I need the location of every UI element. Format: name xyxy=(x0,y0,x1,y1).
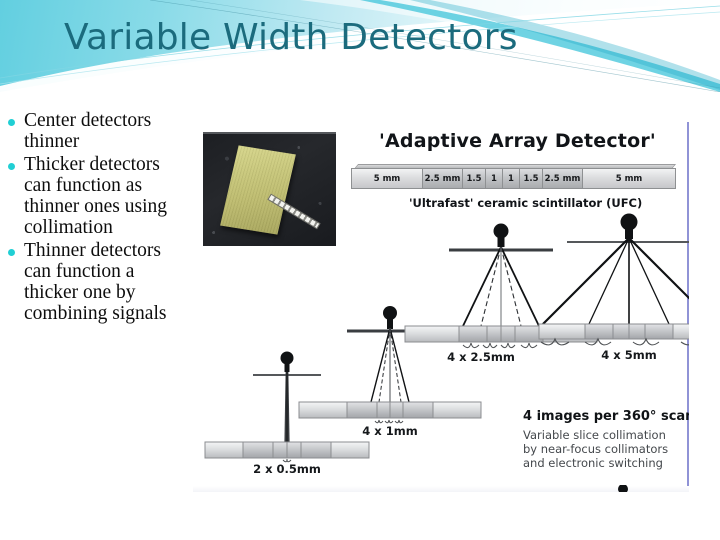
figure-note-heading: 4 images per 360° scan xyxy=(523,409,683,424)
detector-strip: 5 mm 2.5 mm 1.5 1 1 1.5 2.5 mm 5 mm xyxy=(351,164,676,190)
list-item-label: Thinner detectors can function a thicker… xyxy=(24,240,182,324)
figure-note: 4 images per 360° scan Variable slice co… xyxy=(523,409,683,470)
list-item: Thicker detectors can function as thinne… xyxy=(8,154,190,238)
fan-diagram-label: 4 x 1mm xyxy=(295,424,485,438)
detector-cell: 1 xyxy=(503,168,520,189)
scintillator-caption: 'Ultrafast' ceramic scintillator (UFC) xyxy=(409,196,642,210)
figure-note-body: Variable slice collimation by near-focus… xyxy=(523,428,683,470)
slide-header-band: Variable Width Detectors xyxy=(0,0,720,92)
fan-diagram-label: 4 x 5mm xyxy=(523,348,689,362)
detector-cell: 1 xyxy=(486,168,503,189)
ceramic-plate xyxy=(220,145,296,234)
detector-cell: 2.5 mm xyxy=(423,168,463,189)
bullet-dot-icon xyxy=(8,163,15,170)
list-item-label: Center detectors thinner xyxy=(24,110,182,152)
figure-heading: 'Adaptive Array Detector' xyxy=(379,130,656,152)
scintillator-photo xyxy=(203,132,336,246)
slide: Variable Width Detectors Center detector… xyxy=(0,0,720,540)
figure-panel: 'Adaptive Array Detector' 5 mm 2.5 mm 1.… xyxy=(193,122,689,492)
detector-cell: 5 mm xyxy=(351,168,423,189)
page-title: Variable Width Detectors xyxy=(64,17,518,58)
detector-cell: 1.5 xyxy=(520,168,543,189)
list-item: Center detectors thinner xyxy=(8,110,190,152)
fan-diagram-4x5mm: 4 x 5mm xyxy=(523,212,689,372)
collimator-pointer-graphic xyxy=(549,485,689,492)
detector-strip-cells: 5 mm 2.5 mm 1.5 1 1 1.5 2.5 mm 5 mm xyxy=(351,168,676,189)
bullet-list: Center detectors thinner Thicker detecto… xyxy=(8,110,190,326)
list-item-label: Thicker detectors can function as thinne… xyxy=(24,154,182,238)
detector-cell: 1.5 xyxy=(463,168,486,189)
bullet-dot-icon xyxy=(8,249,15,256)
detector-cell: 5 mm xyxy=(583,168,676,189)
list-item: Thinner detectors can function a thicker… xyxy=(8,240,190,324)
fan-diagram-label: 2 x 0.5mm xyxy=(201,462,373,476)
bullet-dot-icon xyxy=(8,119,15,126)
detector-cell: 2.5 mm xyxy=(543,168,583,189)
